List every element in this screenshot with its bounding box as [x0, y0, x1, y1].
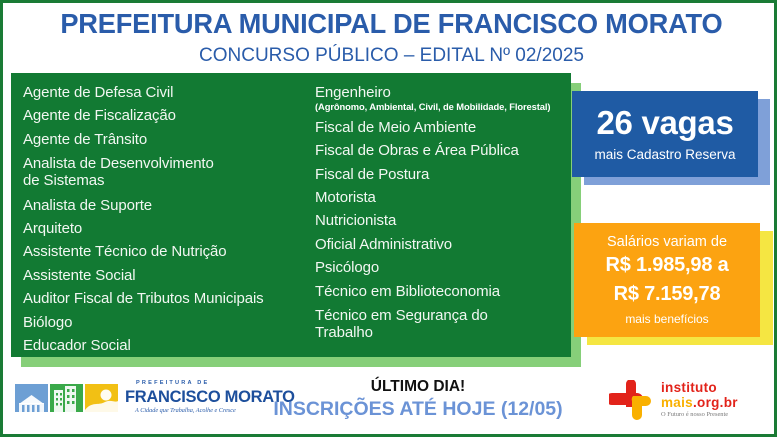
- poster-root: PREFEITURA MUNICIPAL DE FRANCISCO MORATO…: [0, 0, 777, 437]
- salary-box: Salários variam de R$ 1.985,98 a R$ 7.15…: [574, 223, 760, 337]
- list-item: Analista de Desenvolvimento de Sistemas: [23, 155, 315, 190]
- list-item: Assistente Técnico de Nutrição: [23, 244, 315, 259]
- jobs-column-left: Agente de Defesa Civil Agente de Fiscali…: [23, 85, 315, 357]
- list-item: Motorista: [315, 190, 565, 205]
- page-title: PREFEITURA MUNICIPAL DE FRANCISCO MORATO: [60, 10, 722, 38]
- instituto-text: instituto: [661, 381, 738, 395]
- page-subtitle: CONCURSO PÚBLICO – EDITAL Nº 02/2025: [199, 46, 584, 65]
- list-item: Oficial Administrativo: [315, 237, 565, 252]
- jobs-column-middle: Engenheiro (Agrônomo, Ambiental, Civil, …: [315, 85, 565, 357]
- vagas-box: 26 vagas mais Cadastro Reserva: [572, 91, 758, 177]
- list-item: Analista de Suporte: [23, 198, 315, 213]
- list-item: Arquiteto: [23, 221, 315, 236]
- city-landscape-sun-icon: [85, 384, 118, 412]
- jobs-panel: Agente de Defesa Civil Agente de Fiscali…: [11, 73, 571, 357]
- salary-benefits: mais benefícios: [625, 313, 708, 325]
- salary-label: Salários variam de: [607, 235, 727, 250]
- poster-header: PREFEITURA MUNICIPAL DE FRANCISCO MORATO…: [6, 6, 777, 69]
- list-item: Nutricionista: [315, 213, 565, 228]
- org-br-text: .org.br: [693, 395, 738, 410]
- instituto-tagline: O Futuro é nosso Presente: [661, 412, 738, 418]
- salary-value-from: R$ 1.985,98 a: [605, 254, 728, 278]
- list-item: Fiscal de Meio Ambiente: [315, 120, 565, 135]
- salary-value-to: R$ 7.159,78: [614, 283, 721, 307]
- mais-text: mais: [661, 395, 693, 410]
- list-item: Fiscal de Obras e Área Pública: [315, 143, 565, 158]
- list-item: Técnico em Segurança do Trabalho: [315, 307, 565, 342]
- list-item: Assistente Social: [23, 268, 315, 283]
- last-day-label: ÚLTIMO DIA!: [371, 379, 465, 395]
- vagas-count: 26 vagas: [596, 106, 733, 139]
- vagas-note: mais Cadastro Reserva: [594, 148, 735, 162]
- instituto-mais-logo: instituto mais.org.br O Futuro é nosso P…: [609, 380, 738, 420]
- mais-org-text: mais.org.br: [661, 396, 738, 410]
- deadline-text: INSCRIÇÕES ATÉ HOJE (12/05): [273, 400, 562, 420]
- list-item: Fiscal de Postura: [315, 167, 565, 182]
- list-item: Educador Social: [23, 338, 315, 353]
- list-item: Agente de Trânsito: [23, 132, 315, 147]
- list-item: Biólogo: [23, 315, 315, 330]
- list-item: Psicólogo: [315, 260, 565, 275]
- deadline-callout: ÚLTIMO DIA! INSCRIÇÕES ATÉ HOJE (12/05): [253, 379, 583, 419]
- engenheiro-specialties: (Agrônomo, Ambiental, Civil, de Mobilida…: [315, 102, 565, 111]
- city-hall-building-icon: [15, 384, 48, 412]
- list-item: Agente de Defesa Civil: [23, 85, 315, 100]
- instituto-mais-plus-icon: [609, 380, 655, 420]
- instituto-mais-wordmark: instituto mais.org.br O Futuro é nosso P…: [661, 381, 738, 418]
- city-logo-tiles: [15, 384, 118, 412]
- list-item: Auditor Fiscal de Tributos Municipais: [23, 291, 315, 306]
- jobs-columns: Agente de Defesa Civil Agente de Fiscali…: [11, 73, 571, 357]
- list-item: Agente de Fiscalização: [23, 108, 315, 123]
- list-item: Técnico em Biblioteconomia: [315, 284, 565, 299]
- city-buildings-icon: [50, 384, 83, 412]
- list-item: Engenheiro: [315, 85, 565, 100]
